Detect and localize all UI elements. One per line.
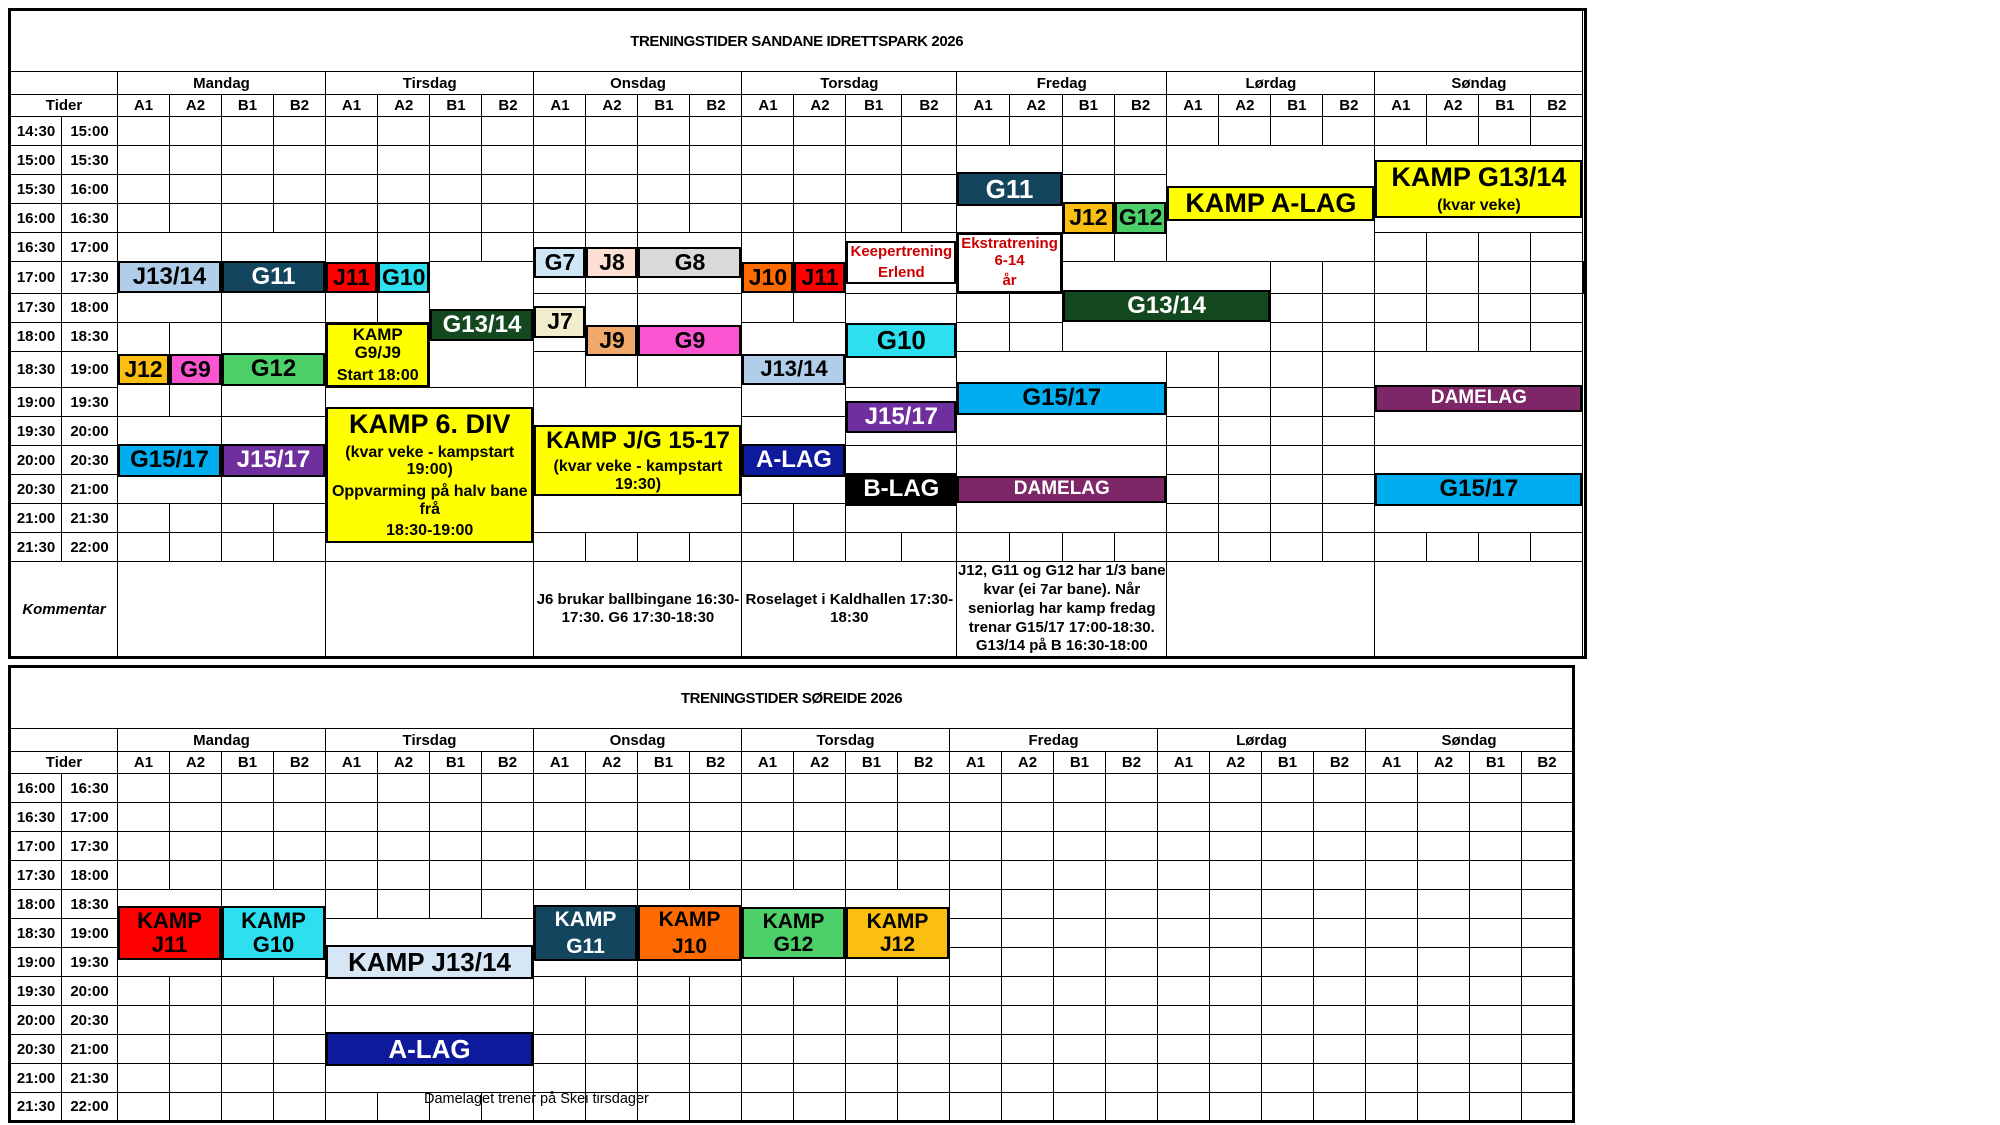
empty-slot[interactable] bbox=[950, 919, 1002, 948]
empty-slot[interactable] bbox=[1106, 977, 1158, 1006]
empty-slot[interactable] bbox=[482, 204, 534, 233]
empty-slot[interactable] bbox=[1210, 774, 1262, 803]
empty-slot[interactable] bbox=[1158, 774, 1210, 803]
empty-slot[interactable] bbox=[1002, 832, 1054, 861]
empty-slot[interactable] bbox=[1271, 262, 1323, 294]
empty-slot[interactable] bbox=[638, 832, 690, 861]
empty-slot[interactable] bbox=[690, 832, 742, 861]
empty-slot[interactable] bbox=[430, 204, 482, 233]
empty-slot[interactable] bbox=[118, 803, 170, 832]
empty-slot[interactable] bbox=[1054, 890, 1106, 919]
empty-slot[interactable] bbox=[326, 803, 378, 832]
empty-slot[interactable] bbox=[534, 175, 586, 204]
event-block-g15-17[interactable]: G15/17 bbox=[957, 382, 1166, 414]
empty-slot[interactable] bbox=[898, 1035, 950, 1064]
empty-slot[interactable] bbox=[1470, 861, 1522, 890]
event-block-b-lag[interactable]: B-LAG bbox=[846, 473, 956, 505]
empty-slot[interactable] bbox=[1314, 832, 1366, 861]
empty-slot[interactable] bbox=[170, 204, 222, 233]
event-block-j12[interactable]: J12 bbox=[118, 354, 169, 385]
empty-slot[interactable] bbox=[846, 533, 901, 562]
empty-slot[interactable] bbox=[690, 1093, 742, 1122]
empty-slot[interactable] bbox=[742, 504, 794, 533]
event-cell[interactable]: KAMP A-LAG bbox=[1167, 146, 1375, 262]
empty-slot[interactable] bbox=[274, 504, 326, 533]
event-cell[interactable]: KAMP J/G 15-17(kvar veke - kampstart 19:… bbox=[534, 388, 742, 533]
event-cell[interactable]: DAMELAG bbox=[957, 446, 1167, 533]
empty-slot[interactable] bbox=[1314, 774, 1366, 803]
empty-slot[interactable] bbox=[950, 832, 1002, 861]
empty-slot[interactable] bbox=[1106, 1035, 1158, 1064]
event-block-damelag[interactable]: DAMELAG bbox=[1375, 385, 1582, 412]
event-cell[interactable]: KAMP J13/14 bbox=[326, 919, 534, 1006]
empty-slot[interactable] bbox=[222, 774, 274, 803]
empty-slot[interactable] bbox=[638, 1035, 690, 1064]
empty-slot[interactable] bbox=[170, 175, 222, 204]
event-block-g7[interactable]: G7 bbox=[534, 247, 585, 278]
empty-slot[interactable] bbox=[898, 1064, 950, 1093]
empty-slot[interactable] bbox=[1002, 890, 1054, 919]
event-cell[interactable]: KAMP G13/14(kvar veke) bbox=[1375, 146, 1583, 233]
event-cell[interactable]: KeepertreningErlend bbox=[846, 233, 957, 294]
empty-slot[interactable] bbox=[794, 977, 846, 1006]
empty-slot[interactable] bbox=[1002, 803, 1054, 832]
empty-slot[interactable] bbox=[1219, 117, 1271, 146]
empty-slot[interactable] bbox=[1522, 948, 1574, 977]
empty-slot[interactable] bbox=[1470, 803, 1522, 832]
empty-slot[interactable] bbox=[1323, 293, 1375, 322]
empty-slot[interactable] bbox=[1479, 117, 1531, 146]
empty-slot[interactable] bbox=[222, 1035, 274, 1064]
empty-slot[interactable] bbox=[846, 774, 898, 803]
empty-slot[interactable] bbox=[1271, 504, 1323, 533]
empty-slot[interactable] bbox=[586, 1006, 638, 1035]
empty-slot[interactable] bbox=[1314, 890, 1366, 919]
empty-slot[interactable] bbox=[1314, 977, 1366, 1006]
empty-slot[interactable] bbox=[846, 1093, 898, 1122]
empty-slot[interactable] bbox=[378, 175, 430, 204]
empty-slot[interactable] bbox=[1106, 1093, 1158, 1122]
empty-slot[interactable] bbox=[742, 146, 794, 175]
empty-slot[interactable] bbox=[378, 803, 430, 832]
empty-slot[interactable] bbox=[222, 175, 274, 204]
empty-slot[interactable] bbox=[1210, 890, 1262, 919]
empty-slot[interactable] bbox=[1114, 533, 1166, 562]
empty-slot[interactable] bbox=[1522, 832, 1574, 861]
empty-slot[interactable] bbox=[690, 117, 742, 146]
empty-slot[interactable] bbox=[901, 204, 956, 233]
empty-slot[interactable] bbox=[1375, 533, 1427, 562]
empty-slot[interactable] bbox=[1262, 919, 1314, 948]
event-cell[interactable]: G12 bbox=[1114, 175, 1166, 262]
empty-slot[interactable] bbox=[1271, 388, 1323, 417]
empty-slot[interactable] bbox=[1002, 1093, 1054, 1122]
event-cell[interactable]: G13/14 bbox=[1062, 262, 1270, 352]
empty-slot[interactable] bbox=[690, 861, 742, 890]
empty-slot[interactable] bbox=[690, 146, 742, 175]
empty-slot[interactable] bbox=[1114, 146, 1166, 175]
empty-slot[interactable] bbox=[742, 204, 794, 233]
empty-slot[interactable] bbox=[1210, 1064, 1262, 1093]
empty-slot[interactable] bbox=[430, 175, 482, 204]
event-block-g10[interactable]: G10 bbox=[378, 262, 429, 293]
empty-slot[interactable] bbox=[898, 861, 950, 890]
empty-slot[interactable] bbox=[1479, 293, 1531, 322]
empty-slot[interactable] bbox=[1418, 1006, 1470, 1035]
empty-slot[interactable] bbox=[742, 1064, 794, 1093]
empty-slot[interactable] bbox=[170, 861, 222, 890]
empty-slot[interactable] bbox=[950, 948, 1002, 977]
empty-slot[interactable] bbox=[742, 117, 794, 146]
empty-slot[interactable] bbox=[274, 774, 326, 803]
empty-slot[interactable] bbox=[118, 774, 170, 803]
event-block-a-lag[interactable]: A-LAG bbox=[742, 444, 845, 476]
empty-slot[interactable] bbox=[430, 890, 482, 919]
empty-slot[interactable] bbox=[898, 774, 950, 803]
empty-slot[interactable] bbox=[1418, 890, 1470, 919]
empty-slot[interactable] bbox=[1366, 861, 1418, 890]
empty-slot[interactable] bbox=[1323, 533, 1375, 562]
empty-slot[interactable] bbox=[1054, 1064, 1106, 1093]
empty-slot[interactable] bbox=[274, 117, 326, 146]
event-block-a-lag[interactable]: A-LAG bbox=[326, 1032, 533, 1067]
empty-slot[interactable] bbox=[378, 204, 430, 233]
empty-slot[interactable] bbox=[846, 832, 898, 861]
empty-slot[interactable] bbox=[534, 803, 586, 832]
event-cell[interactable]: DAMELAG bbox=[1375, 351, 1583, 446]
empty-slot[interactable] bbox=[118, 204, 170, 233]
empty-slot[interactable] bbox=[794, 774, 846, 803]
empty-slot[interactable] bbox=[1522, 1035, 1574, 1064]
empty-slot[interactable] bbox=[1522, 977, 1574, 1006]
event-cell[interactable]: KAMP G12 bbox=[742, 890, 846, 977]
empty-slot[interactable] bbox=[898, 977, 950, 1006]
empty-slot[interactable] bbox=[794, 204, 846, 233]
empty-slot[interactable] bbox=[1323, 446, 1375, 475]
empty-slot[interactable] bbox=[534, 533, 586, 562]
empty-slot[interactable] bbox=[1002, 1035, 1054, 1064]
empty-slot[interactable] bbox=[326, 1093, 378, 1122]
empty-slot[interactable] bbox=[898, 1093, 950, 1122]
empty-slot[interactable] bbox=[1210, 1093, 1262, 1122]
empty-slot[interactable] bbox=[586, 533, 638, 562]
empty-slot[interactable] bbox=[1054, 1035, 1106, 1064]
empty-slot[interactable] bbox=[222, 832, 274, 861]
empty-slot[interactable] bbox=[222, 977, 274, 1006]
empty-slot[interactable] bbox=[378, 1093, 430, 1122]
empty-slot[interactable] bbox=[326, 774, 378, 803]
empty-slot[interactable] bbox=[638, 146, 690, 175]
empty-slot[interactable] bbox=[1470, 890, 1522, 919]
event-block-j11[interactable]: J11 bbox=[794, 262, 845, 293]
empty-slot[interactable] bbox=[1522, 1093, 1574, 1122]
empty-slot[interactable] bbox=[898, 832, 950, 861]
empty-slot[interactable] bbox=[742, 977, 794, 1006]
empty-slot[interactable] bbox=[1470, 1006, 1522, 1035]
empty-slot[interactable] bbox=[794, 1035, 846, 1064]
event-block-j10[interactable]: J10 bbox=[742, 262, 793, 293]
empty-slot[interactable] bbox=[1271, 475, 1323, 504]
event-block-g10[interactable]: G10 bbox=[846, 323, 956, 358]
empty-slot[interactable] bbox=[1167, 475, 1219, 504]
empty-slot[interactable] bbox=[1262, 948, 1314, 977]
empty-slot[interactable] bbox=[1262, 803, 1314, 832]
empty-slot[interactable] bbox=[274, 1006, 326, 1035]
empty-slot[interactable] bbox=[170, 774, 222, 803]
empty-slot[interactable] bbox=[638, 1006, 690, 1035]
empty-slot[interactable] bbox=[586, 1035, 638, 1064]
empty-slot[interactable] bbox=[1262, 774, 1314, 803]
empty-slot[interactable] bbox=[742, 175, 794, 204]
empty-slot[interactable] bbox=[1531, 262, 1583, 294]
event-block-g8[interactable]: G8 bbox=[638, 247, 741, 278]
empty-slot[interactable] bbox=[170, 117, 222, 146]
empty-slot[interactable] bbox=[1375, 322, 1427, 351]
empty-slot[interactable] bbox=[170, 1093, 222, 1122]
empty-slot[interactable] bbox=[1158, 861, 1210, 890]
empty-slot[interactable] bbox=[1106, 919, 1158, 948]
event-block-g11[interactable]: G11 bbox=[222, 261, 325, 293]
empty-slot[interactable] bbox=[1054, 774, 1106, 803]
empty-slot[interactable] bbox=[274, 977, 326, 1006]
empty-slot[interactable] bbox=[118, 861, 170, 890]
empty-slot[interactable] bbox=[950, 890, 1002, 919]
event-cell[interactable]: G13/14 bbox=[430, 262, 534, 388]
event-block-j15-17[interactable]: J15/17 bbox=[846, 401, 956, 433]
empty-slot[interactable] bbox=[1479, 262, 1531, 294]
empty-slot[interactable] bbox=[378, 117, 430, 146]
event-cell[interactable]: G9 bbox=[170, 322, 222, 417]
event-cell[interactable]: G7 bbox=[534, 233, 586, 294]
empty-slot[interactable] bbox=[586, 204, 638, 233]
event-cell[interactable]: G15/17 bbox=[1375, 446, 1583, 533]
event-cell[interactable]: J8 bbox=[586, 233, 638, 294]
empty-slot[interactable] bbox=[1114, 117, 1166, 146]
empty-slot[interactable] bbox=[1106, 948, 1158, 977]
empty-slot[interactable] bbox=[274, 175, 326, 204]
empty-slot[interactable] bbox=[326, 175, 378, 204]
empty-slot[interactable] bbox=[1522, 1006, 1574, 1035]
empty-slot[interactable] bbox=[326, 890, 378, 919]
empty-slot[interactable] bbox=[482, 774, 534, 803]
empty-slot[interactable] bbox=[1158, 1035, 1210, 1064]
empty-slot[interactable] bbox=[950, 774, 1002, 803]
empty-slot[interactable] bbox=[846, 1064, 898, 1093]
event-block-keepertrening[interactable]: KeepertreningErlend bbox=[846, 241, 956, 284]
empty-slot[interactable] bbox=[482, 146, 534, 175]
empty-slot[interactable] bbox=[118, 1093, 170, 1122]
empty-slot[interactable] bbox=[326, 204, 378, 233]
empty-slot[interactable] bbox=[118, 832, 170, 861]
empty-slot[interactable] bbox=[1522, 890, 1574, 919]
empty-slot[interactable] bbox=[1219, 475, 1271, 504]
empty-slot[interactable] bbox=[534, 774, 586, 803]
empty-slot[interactable] bbox=[1106, 890, 1158, 919]
empty-slot[interactable] bbox=[1106, 832, 1158, 861]
event-block-damelag[interactable]: DAMELAG bbox=[957, 476, 1166, 503]
empty-slot[interactable] bbox=[1271, 293, 1323, 322]
empty-slot[interactable] bbox=[1054, 803, 1106, 832]
empty-slot[interactable] bbox=[846, 861, 898, 890]
event-block-kamp-j13-14[interactable]: KAMP J13/14 bbox=[326, 945, 533, 980]
empty-slot[interactable] bbox=[690, 803, 742, 832]
empty-slot[interactable] bbox=[794, 175, 846, 204]
empty-slot[interactable] bbox=[170, 803, 222, 832]
empty-slot[interactable] bbox=[1219, 446, 1271, 475]
empty-slot[interactable] bbox=[1210, 1035, 1262, 1064]
empty-slot[interactable] bbox=[1418, 1064, 1470, 1093]
empty-slot[interactable] bbox=[1314, 1006, 1366, 1035]
empty-slot[interactable] bbox=[1106, 774, 1158, 803]
empty-slot[interactable] bbox=[1219, 533, 1271, 562]
empty-slot[interactable] bbox=[1427, 262, 1479, 294]
empty-slot[interactable] bbox=[1271, 117, 1323, 146]
empty-slot[interactable] bbox=[1054, 861, 1106, 890]
empty-slot[interactable] bbox=[1271, 446, 1323, 475]
event-cell[interactable]: J13/14 bbox=[742, 322, 846, 417]
empty-slot[interactable] bbox=[1010, 117, 1063, 146]
empty-slot[interactable] bbox=[1314, 919, 1366, 948]
empty-slot[interactable] bbox=[1375, 117, 1427, 146]
empty-slot[interactable] bbox=[950, 861, 1002, 890]
empty-slot[interactable] bbox=[170, 832, 222, 861]
empty-slot[interactable] bbox=[118, 1035, 170, 1064]
empty-slot[interactable] bbox=[742, 803, 794, 832]
empty-slot[interactable] bbox=[1167, 351, 1219, 388]
event-block-g15-17[interactable]: G15/17 bbox=[118, 444, 221, 476]
empty-slot[interactable] bbox=[534, 1064, 586, 1093]
empty-slot[interactable] bbox=[222, 803, 274, 832]
event-cell[interactable]: G10 bbox=[378, 233, 430, 323]
empty-slot[interactable] bbox=[586, 861, 638, 890]
empty-slot[interactable] bbox=[326, 861, 378, 890]
empty-slot[interactable] bbox=[1375, 293, 1427, 322]
event-cell[interactable]: A-LAG bbox=[742, 417, 846, 504]
event-cell[interactable]: Ekstratrening 6-14år bbox=[957, 233, 1063, 294]
event-cell[interactable]: G15/17 bbox=[118, 417, 222, 504]
empty-slot[interactable] bbox=[794, 117, 846, 146]
empty-slot[interactable] bbox=[1054, 948, 1106, 977]
empty-slot[interactable] bbox=[794, 1006, 846, 1035]
event-block-j15-17[interactable]: J15/17 bbox=[222, 444, 325, 476]
empty-slot[interactable] bbox=[1158, 948, 1210, 977]
empty-slot[interactable] bbox=[1210, 832, 1262, 861]
empty-slot[interactable] bbox=[1010, 293, 1063, 322]
empty-slot[interactable] bbox=[1470, 774, 1522, 803]
empty-slot[interactable] bbox=[794, 1093, 846, 1122]
empty-slot[interactable] bbox=[1323, 351, 1375, 388]
empty-slot[interactable] bbox=[1002, 774, 1054, 803]
empty-slot[interactable] bbox=[1262, 1035, 1314, 1064]
empty-slot[interactable] bbox=[1062, 146, 1114, 175]
empty-slot[interactable] bbox=[1418, 774, 1470, 803]
empty-slot[interactable] bbox=[742, 832, 794, 861]
event-block-kamp[interactable]: KAMPG11 bbox=[534, 905, 637, 961]
empty-slot[interactable] bbox=[1479, 322, 1531, 351]
empty-slot[interactable] bbox=[1522, 803, 1574, 832]
empty-slot[interactable] bbox=[794, 832, 846, 861]
empty-slot[interactable] bbox=[1531, 322, 1583, 351]
empty-slot[interactable] bbox=[1366, 890, 1418, 919]
empty-slot[interactable] bbox=[430, 146, 482, 175]
event-block-g15-17[interactable]: G15/17 bbox=[1375, 473, 1582, 505]
empty-slot[interactable] bbox=[274, 204, 326, 233]
event-cell[interactable]: J10 bbox=[742, 233, 794, 323]
empty-slot[interactable] bbox=[1531, 233, 1583, 262]
empty-slot[interactable] bbox=[1314, 803, 1366, 832]
empty-slot[interactable] bbox=[1366, 1006, 1418, 1035]
empty-slot[interactable] bbox=[846, 204, 901, 233]
empty-slot[interactable] bbox=[846, 803, 898, 832]
empty-slot[interactable] bbox=[222, 861, 274, 890]
empty-slot[interactable] bbox=[1002, 948, 1054, 977]
event-cell[interactable]: KAMP J12 bbox=[846, 890, 950, 977]
empty-slot[interactable] bbox=[846, 146, 901, 175]
empty-slot[interactable] bbox=[638, 977, 690, 1006]
empty-slot[interactable] bbox=[1158, 803, 1210, 832]
empty-slot[interactable] bbox=[170, 1035, 222, 1064]
empty-slot[interactable] bbox=[690, 1064, 742, 1093]
event-cell[interactable]: G12 bbox=[222, 322, 326, 417]
empty-slot[interactable] bbox=[1418, 919, 1470, 948]
empty-slot[interactable] bbox=[1106, 1064, 1158, 1093]
empty-slot[interactable] bbox=[118, 1006, 170, 1035]
event-block-kamp-g10[interactable]: KAMP G10 bbox=[222, 906, 325, 960]
empty-slot[interactable] bbox=[118, 175, 170, 204]
empty-slot[interactable] bbox=[222, 146, 274, 175]
empty-slot[interactable] bbox=[950, 1093, 1002, 1122]
empty-slot[interactable] bbox=[1219, 351, 1271, 388]
empty-slot[interactable] bbox=[742, 861, 794, 890]
empty-slot[interactable] bbox=[534, 832, 586, 861]
empty-slot[interactable] bbox=[1262, 861, 1314, 890]
event-block-kamp-g9-j9[interactable]: KAMP G9/J9Start 18:00 bbox=[326, 323, 429, 388]
event-block-ekstratrening-6-14[interactable]: Ekstratrening 6-14år bbox=[957, 233, 1062, 293]
event-block-j12[interactable]: J12 bbox=[1063, 202, 1114, 233]
empty-slot[interactable] bbox=[1427, 233, 1479, 262]
empty-slot[interactable] bbox=[690, 774, 742, 803]
event-cell[interactable]: J11 bbox=[326, 233, 378, 323]
event-cell[interactable]: B-LAG bbox=[846, 446, 957, 533]
empty-slot[interactable] bbox=[222, 204, 274, 233]
empty-slot[interactable] bbox=[534, 204, 586, 233]
empty-slot[interactable] bbox=[1167, 417, 1219, 446]
empty-slot[interactable] bbox=[586, 117, 638, 146]
empty-slot[interactable] bbox=[950, 1035, 1002, 1064]
empty-slot[interactable] bbox=[1210, 803, 1262, 832]
event-block-j13-14[interactable]: J13/14 bbox=[118, 261, 221, 293]
empty-slot[interactable] bbox=[1062, 533, 1114, 562]
empty-slot[interactable] bbox=[1167, 446, 1219, 475]
empty-slot[interactable] bbox=[430, 832, 482, 861]
empty-slot[interactable] bbox=[118, 977, 170, 1006]
empty-slot[interactable] bbox=[638, 204, 690, 233]
event-cell[interactable]: G11 bbox=[222, 233, 326, 323]
empty-slot[interactable] bbox=[1210, 919, 1262, 948]
empty-slot[interactable] bbox=[1167, 388, 1219, 417]
empty-slot[interactable] bbox=[690, 533, 742, 562]
empty-slot[interactable] bbox=[1522, 774, 1574, 803]
empty-slot[interactable] bbox=[1366, 1035, 1418, 1064]
empty-slot[interactable] bbox=[1470, 977, 1522, 1006]
empty-slot[interactable] bbox=[1418, 803, 1470, 832]
empty-slot[interactable] bbox=[482, 861, 534, 890]
empty-slot[interactable] bbox=[1106, 803, 1158, 832]
empty-slot[interactable] bbox=[1531, 293, 1583, 322]
empty-slot[interactable] bbox=[1262, 832, 1314, 861]
empty-slot[interactable] bbox=[898, 803, 950, 832]
empty-slot[interactable] bbox=[742, 1093, 794, 1122]
